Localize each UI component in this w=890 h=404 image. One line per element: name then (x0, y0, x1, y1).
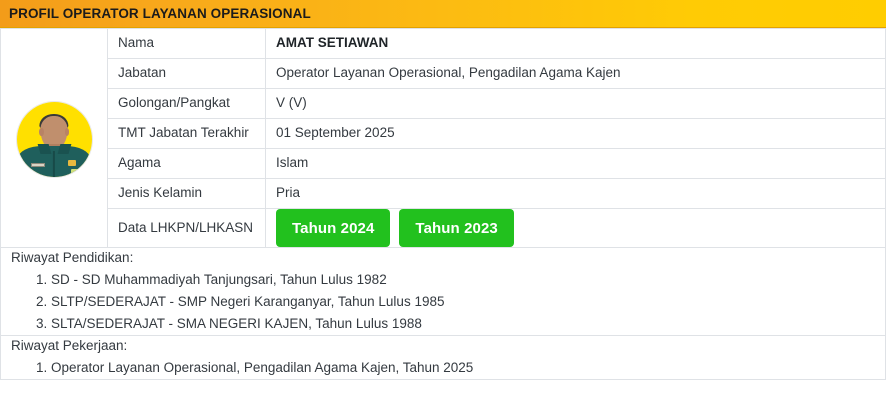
avatar-badge-secondary (71, 169, 78, 176)
education-history-title: Riwayat Pendidikan: (11, 248, 875, 268)
table-row: Agama Islam (1, 149, 886, 179)
avatar-badge (68, 160, 76, 166)
avatar (16, 101, 93, 178)
list-item: 1. SD - SD Muhammadiyah Tanjungsari, Tah… (36, 269, 875, 291)
avatar-nametag (31, 163, 45, 167)
profile-photo-icon (17, 102, 92, 177)
field-label-jenis-kelamin: Jenis Kelamin (108, 179, 266, 209)
field-value-jabatan: Operator Layanan Operasional, Pengadilan… (266, 59, 886, 89)
photo-cell (1, 29, 108, 248)
list-item: 1. Operator Layanan Operasional, Pengadi… (36, 357, 875, 379)
field-label-lhkpn: Data LHKPN/LHKASN (108, 209, 266, 248)
lhkpn-button-group: Tahun 2024 Tahun 2023 (276, 209, 875, 247)
education-history-cell: Riwayat Pendidikan: 1. SD - SD Muhammadi… (1, 248, 886, 336)
work-history-cell: Riwayat Pekerjaan: 1. Operator Layanan O… (1, 335, 886, 379)
field-value-tmt: 01 September 2025 (266, 119, 886, 149)
table-row: Riwayat Pendidikan: 1. SD - SD Muhammadi… (1, 248, 886, 336)
table-row: Data LHKPN/LHKASN Tahun 2024 Tahun 2023 (1, 209, 886, 248)
field-label-jabatan: Jabatan (108, 59, 266, 89)
table-row: Jabatan Operator Layanan Operasional, Pe… (1, 59, 886, 89)
profile-panel: PROFIL OPERATOR LAYANAN OPERASIONAL (0, 0, 890, 404)
lhkpn-buttons-cell: Tahun 2024 Tahun 2023 (266, 209, 886, 248)
field-value-nama: AMAT SETIAWAN (266, 29, 886, 59)
field-label-golongan: Golongan/Pangkat (108, 89, 266, 119)
avatar-collar-right (57, 144, 70, 154)
table-row: Nama AMAT SETIAWAN (1, 29, 886, 59)
education-history-list: 1. SD - SD Muhammadiyah Tanjungsari, Tah… (11, 269, 875, 335)
list-item: 2. SLTP/SEDERAJAT - SMP Negeri Karangany… (36, 291, 875, 313)
table-row: Golongan/Pangkat V (V) (1, 89, 886, 119)
page-title: PROFIL OPERATOR LAYANAN OPERASIONAL (9, 6, 311, 21)
profile-table: Nama AMAT SETIAWAN Jabatan Operator Laya… (0, 28, 886, 380)
field-value-agama: Islam (266, 149, 886, 179)
lhkpn-year-2024-button[interactable]: Tahun 2024 (276, 209, 390, 247)
work-history-list: 1. Operator Layanan Operasional, Pengadi… (11, 357, 875, 379)
table-row: TMT Jabatan Terakhir 01 September 2025 (1, 119, 886, 149)
list-item: 3. SLTA/SEDERAJAT - SMA NEGERI KAJEN, Ta… (36, 313, 875, 335)
field-label-nama: Nama (108, 29, 266, 59)
panel-header: PROFIL OPERATOR LAYANAN OPERASIONAL (0, 0, 886, 28)
avatar-ear-left (39, 128, 44, 136)
table-row: Jenis Kelamin Pria (1, 179, 886, 209)
table-row: Riwayat Pekerjaan: 1. Operator Layanan O… (1, 335, 886, 379)
work-history-title: Riwayat Pekerjaan: (11, 336, 875, 356)
lhkpn-year-2023-button[interactable]: Tahun 2023 (399, 209, 513, 247)
field-value-jenis-kelamin: Pria (266, 179, 886, 209)
avatar-ear-right (65, 128, 70, 136)
avatar-placket (53, 151, 55, 177)
field-label-agama: Agama (108, 149, 266, 179)
field-label-tmt: TMT Jabatan Terakhir (108, 119, 266, 149)
field-value-golongan: V (V) (266, 89, 886, 119)
